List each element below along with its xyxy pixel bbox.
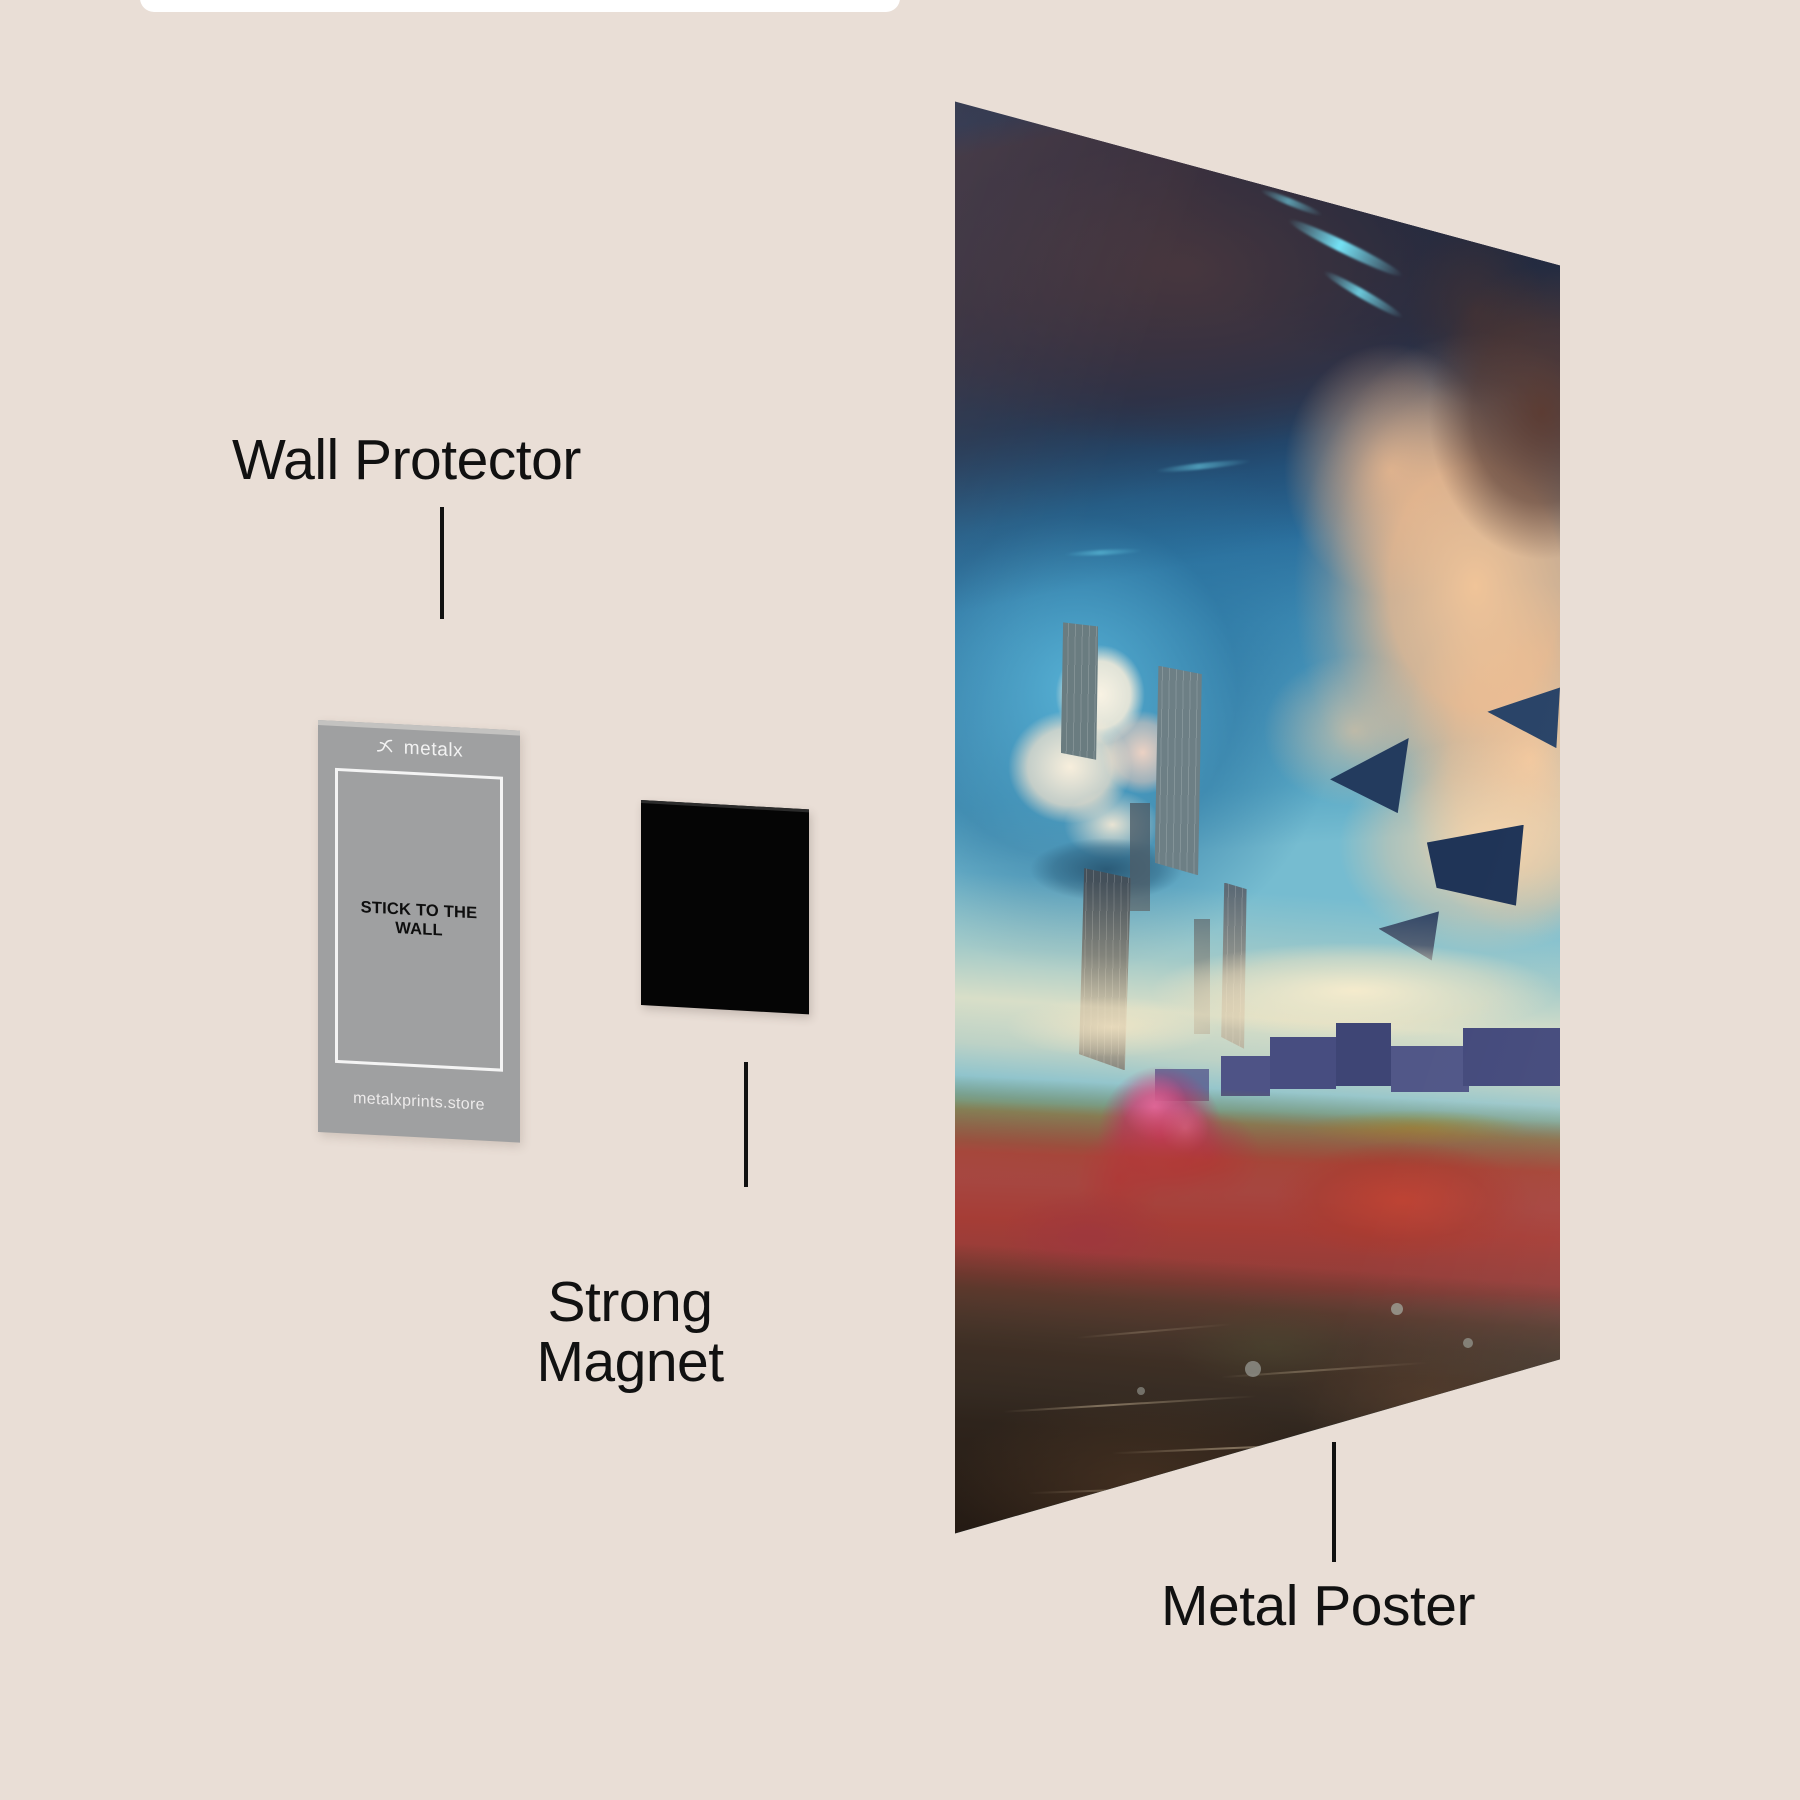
- artwork-metal-sheen: [955, 95, 1560, 1540]
- metalx-cross-icon: [375, 736, 397, 759]
- callout-label-wall-protector: Wall Protector: [232, 430, 581, 490]
- wall-protector-url: metalxprints.store: [318, 1088, 520, 1117]
- wall-protector-inner-frame: STICK TO THE WALL: [335, 768, 503, 1072]
- metal-poster-panel: [955, 95, 1560, 1540]
- callout-label-strong-magnet: Strong Magnet: [536, 1272, 723, 1393]
- callout-label-metal-poster: Metal Poster: [1161, 1576, 1475, 1636]
- strong-magnet-square: [641, 800, 809, 1014]
- wall-protector-logo: metalx: [318, 733, 520, 766]
- wall-protector-sheet: metalx STICK TO THE WALL metalxprints.st…: [318, 720, 520, 1143]
- wall-protector-instruction-text: STICK TO THE WALL: [338, 897, 500, 943]
- leader-line-wall-protector: [440, 507, 444, 619]
- leader-line-strong-magnet: [744, 1062, 748, 1187]
- wall-protector-brand-name: metalx: [404, 737, 464, 762]
- top-notch: [140, 0, 900, 12]
- leader-line-metal-poster: [1332, 1442, 1336, 1562]
- product-infographic: Wall Protector metalx STICK TO THE WALL …: [0, 0, 1800, 1800]
- ground-stroke: [1306, 1462, 1524, 1475]
